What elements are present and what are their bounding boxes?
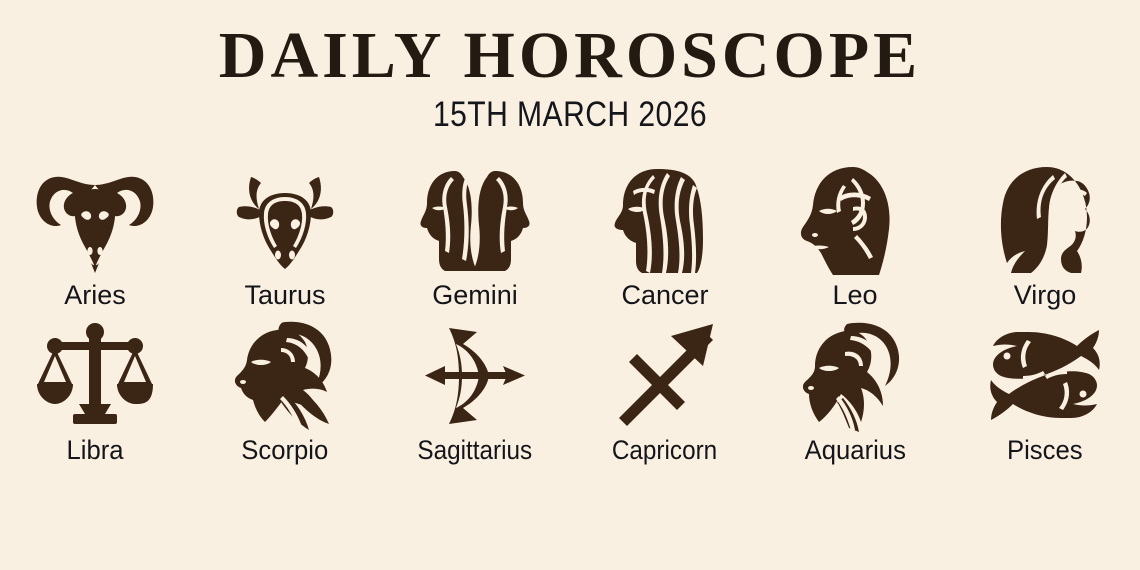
page-title: DAILY HOROSCOPE xyxy=(0,0,1140,90)
zodiac-label: Virgo xyxy=(1014,280,1077,310)
goat-head-horns-icon xyxy=(795,318,915,433)
zodiac-sign-leo[interactable]: Leo xyxy=(760,163,950,310)
zodiac-label: Sagittarius xyxy=(418,435,533,465)
twin-profiles-icon xyxy=(415,163,535,278)
zodiac-label: Aquarius xyxy=(804,435,905,465)
zodiac-label: Scorpio xyxy=(242,435,329,465)
zodiac-sign-libra[interactable]: Libra xyxy=(0,318,190,465)
arrow-with-crossbar-icon xyxy=(605,318,725,433)
zodiac-sign-sagittarius[interactable]: Sagittarius xyxy=(380,318,570,465)
zodiac-grid: Aries xyxy=(0,163,1140,465)
zodiac-label: Libra xyxy=(66,435,123,465)
zodiac-sign-virgo[interactable]: Virgo xyxy=(950,163,1140,310)
zodiac-row-2: Libra xyxy=(0,318,1140,465)
zodiac-sign-capricorn[interactable]: Capricorn xyxy=(570,318,760,465)
zodiac-sign-pisces[interactable]: Pisces xyxy=(950,318,1140,465)
zodiac-label: Capricorn xyxy=(612,435,717,465)
date-subtitle: 15TH MARCH 2026 xyxy=(80,90,1060,133)
lion-head-icon xyxy=(795,163,915,278)
zodiac-sign-taurus[interactable]: Taurus xyxy=(190,163,380,310)
zodiac-sign-gemini[interactable]: Gemini xyxy=(380,163,570,310)
goat-head-left-icon xyxy=(225,318,345,433)
zodiac-label: Taurus xyxy=(244,280,325,310)
scales-icon xyxy=(35,318,155,433)
zodiac-label: Gemini xyxy=(432,280,518,310)
two-fish-icon xyxy=(985,318,1105,433)
zodiac-label: Aries xyxy=(64,280,126,310)
zodiac-label: Leo xyxy=(832,280,877,310)
zodiac-sign-aries[interactable]: Aries xyxy=(0,163,190,310)
daily-horoscope-poster: DAILY HOROSCOPE 15TH MARCH 2026 xyxy=(0,0,1140,570)
woman-profile-right-icon xyxy=(985,163,1105,278)
zodiac-sign-aquarius[interactable]: Aquarius xyxy=(760,318,950,465)
bow-and-arrow-icon xyxy=(415,318,535,433)
zodiac-row-1: Aries xyxy=(0,163,1140,310)
poster-header: DAILY HOROSCOPE 15TH MARCH 2026 xyxy=(0,0,1140,133)
zodiac-sign-cancer[interactable]: Cancer xyxy=(570,163,760,310)
zodiac-label: Cancer xyxy=(621,280,708,310)
woman-profile-left-icon xyxy=(605,163,725,278)
bull-head-icon xyxy=(225,163,345,278)
zodiac-sign-scorpio[interactable]: Scorpio xyxy=(190,318,380,465)
zodiac-label: Pisces xyxy=(1007,435,1083,465)
ram-head-icon xyxy=(35,163,155,278)
